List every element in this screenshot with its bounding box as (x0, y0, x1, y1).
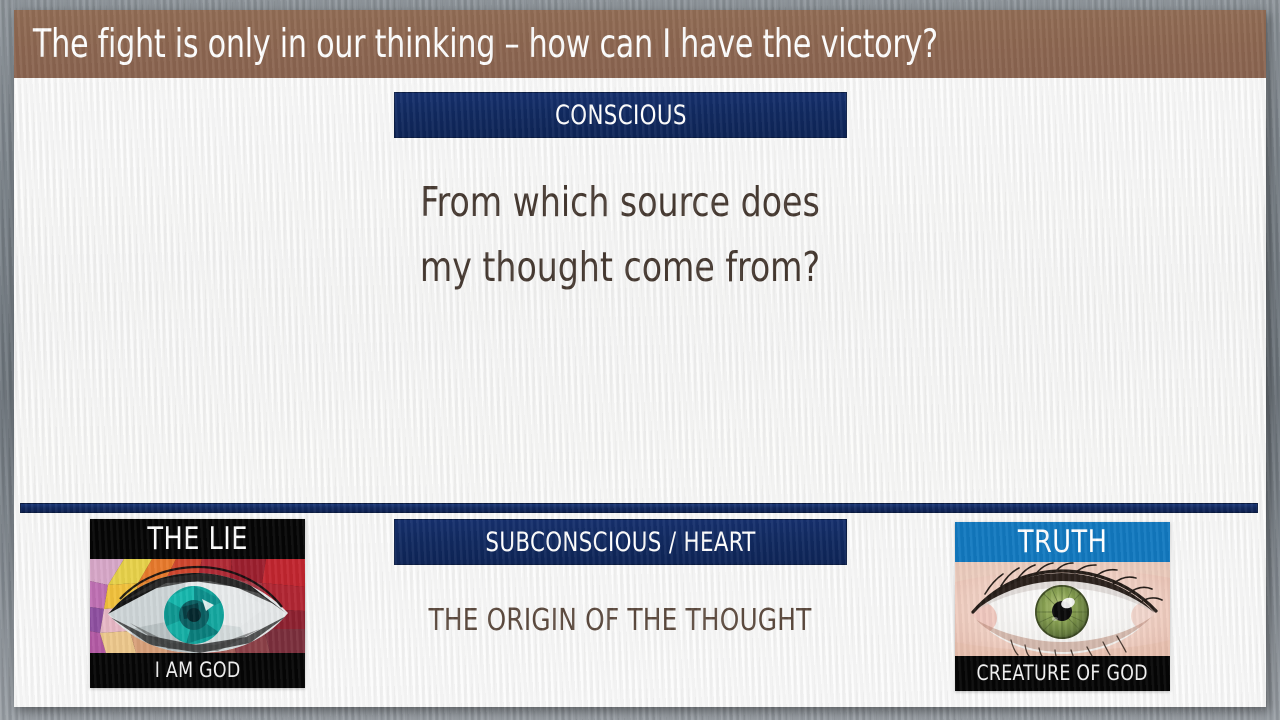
slide-backdrop: CONSCIOUS From which source does my thou… (0, 0, 1280, 720)
lie-card-header: THE LIE (90, 519, 305, 559)
question-line-2: my thought come from? (332, 235, 908, 300)
slide-title-bar: The fight is only in our thinking – how … (14, 10, 1266, 78)
section-divider-rule (20, 503, 1258, 513)
conscious-header-label: CONSCIOUS (555, 102, 687, 129)
lie-card[interactable]: THE LIE (90, 519, 305, 688)
lie-card-caption-label: I AM GOD (155, 660, 241, 681)
truth-card[interactable]: TRUTH (955, 522, 1170, 691)
conscious-header-box: CONSCIOUS (394, 92, 847, 138)
lie-card-header-label: THE LIE (147, 524, 248, 555)
truth-card-header-label: TRUTH (1018, 527, 1108, 558)
subconscious-header-label: SUBCONSCIOUS / HEART (485, 529, 755, 556)
subconscious-header-box: SUBCONSCIOUS / HEART (394, 519, 847, 565)
truth-card-header: TRUTH (955, 522, 1170, 562)
lie-card-caption: I AM GOD (90, 653, 305, 688)
truth-card-caption: CREATURE OF GOD (955, 656, 1170, 691)
conscious-question-text: From which source does my thought come f… (332, 170, 908, 300)
mosaic-eye-icon (90, 559, 305, 653)
slide-title: The fight is only in our thinking – how … (14, 25, 938, 64)
truth-card-caption-label: CREATURE OF GOD (977, 663, 1148, 684)
human-eye-icon (955, 562, 1170, 656)
slide-canvas: CONSCIOUS From which source does my thou… (14, 10, 1266, 707)
question-line-1: From which source does (332, 170, 908, 235)
origin-of-thought-label: THE ORIGIN OF THE THOUGHT (344, 606, 896, 636)
